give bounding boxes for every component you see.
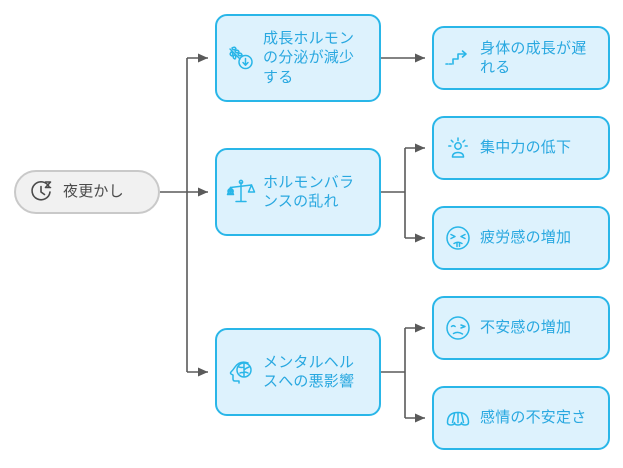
clock-sleep-icon [26, 177, 56, 207]
leaf-node-3-2[interactable]: 感情の不安定さ [432, 386, 610, 450]
leaf-node-2-1[interactable]: 集中力の低下 [432, 116, 610, 180]
leaf-node-2-2[interactable]: 疲労感の増加 [432, 206, 610, 270]
root-label: 夜更かし [63, 182, 146, 202]
branch-label-3: メンタルヘルスへの悪影響 [263, 353, 369, 392]
leaf-label-1-1: 身体の成長が遅れる [480, 39, 598, 78]
branch-node-1[interactable]: 成長ホルモンの分泌が減少する [215, 14, 381, 102]
leaf-node-1-1[interactable]: 身体の成長が遅れる [432, 26, 610, 90]
leaf-label-2-2: 疲労感の増加 [480, 228, 598, 248]
wheat-down-icon [226, 43, 256, 73]
diagram-canvas: 夜更かし 成長ホルモンの分泌が減少する [0, 0, 623, 468]
branch-label-1: 成長ホルモンの分泌が減少する [263, 29, 369, 88]
leaf-label-3-2: 感情の不安定さ [480, 408, 598, 428]
person-focus-icon [443, 133, 473, 163]
branch-node-2[interactable]: ホルモンバランスの乱れ [215, 148, 381, 236]
emotion-swirl-icon [443, 403, 473, 433]
tired-face-icon [443, 223, 473, 253]
branch-label-2: ホルモンバランスの乱れ [263, 173, 369, 212]
anxious-face-icon [443, 313, 473, 343]
branch-node-3[interactable]: メンタルヘルスへの悪影響 [215, 328, 381, 416]
brain-head-icon [226, 357, 256, 387]
step-arrow-icon [443, 43, 473, 73]
leaf-label-2-1: 集中力の低下 [480, 138, 598, 158]
leaf-label-3-1: 不安感の増加 [480, 318, 598, 338]
balance-scale-icon [226, 177, 256, 207]
leaf-node-3-1[interactable]: 不安感の増加 [432, 296, 610, 360]
root-node[interactable]: 夜更かし [14, 170, 160, 214]
